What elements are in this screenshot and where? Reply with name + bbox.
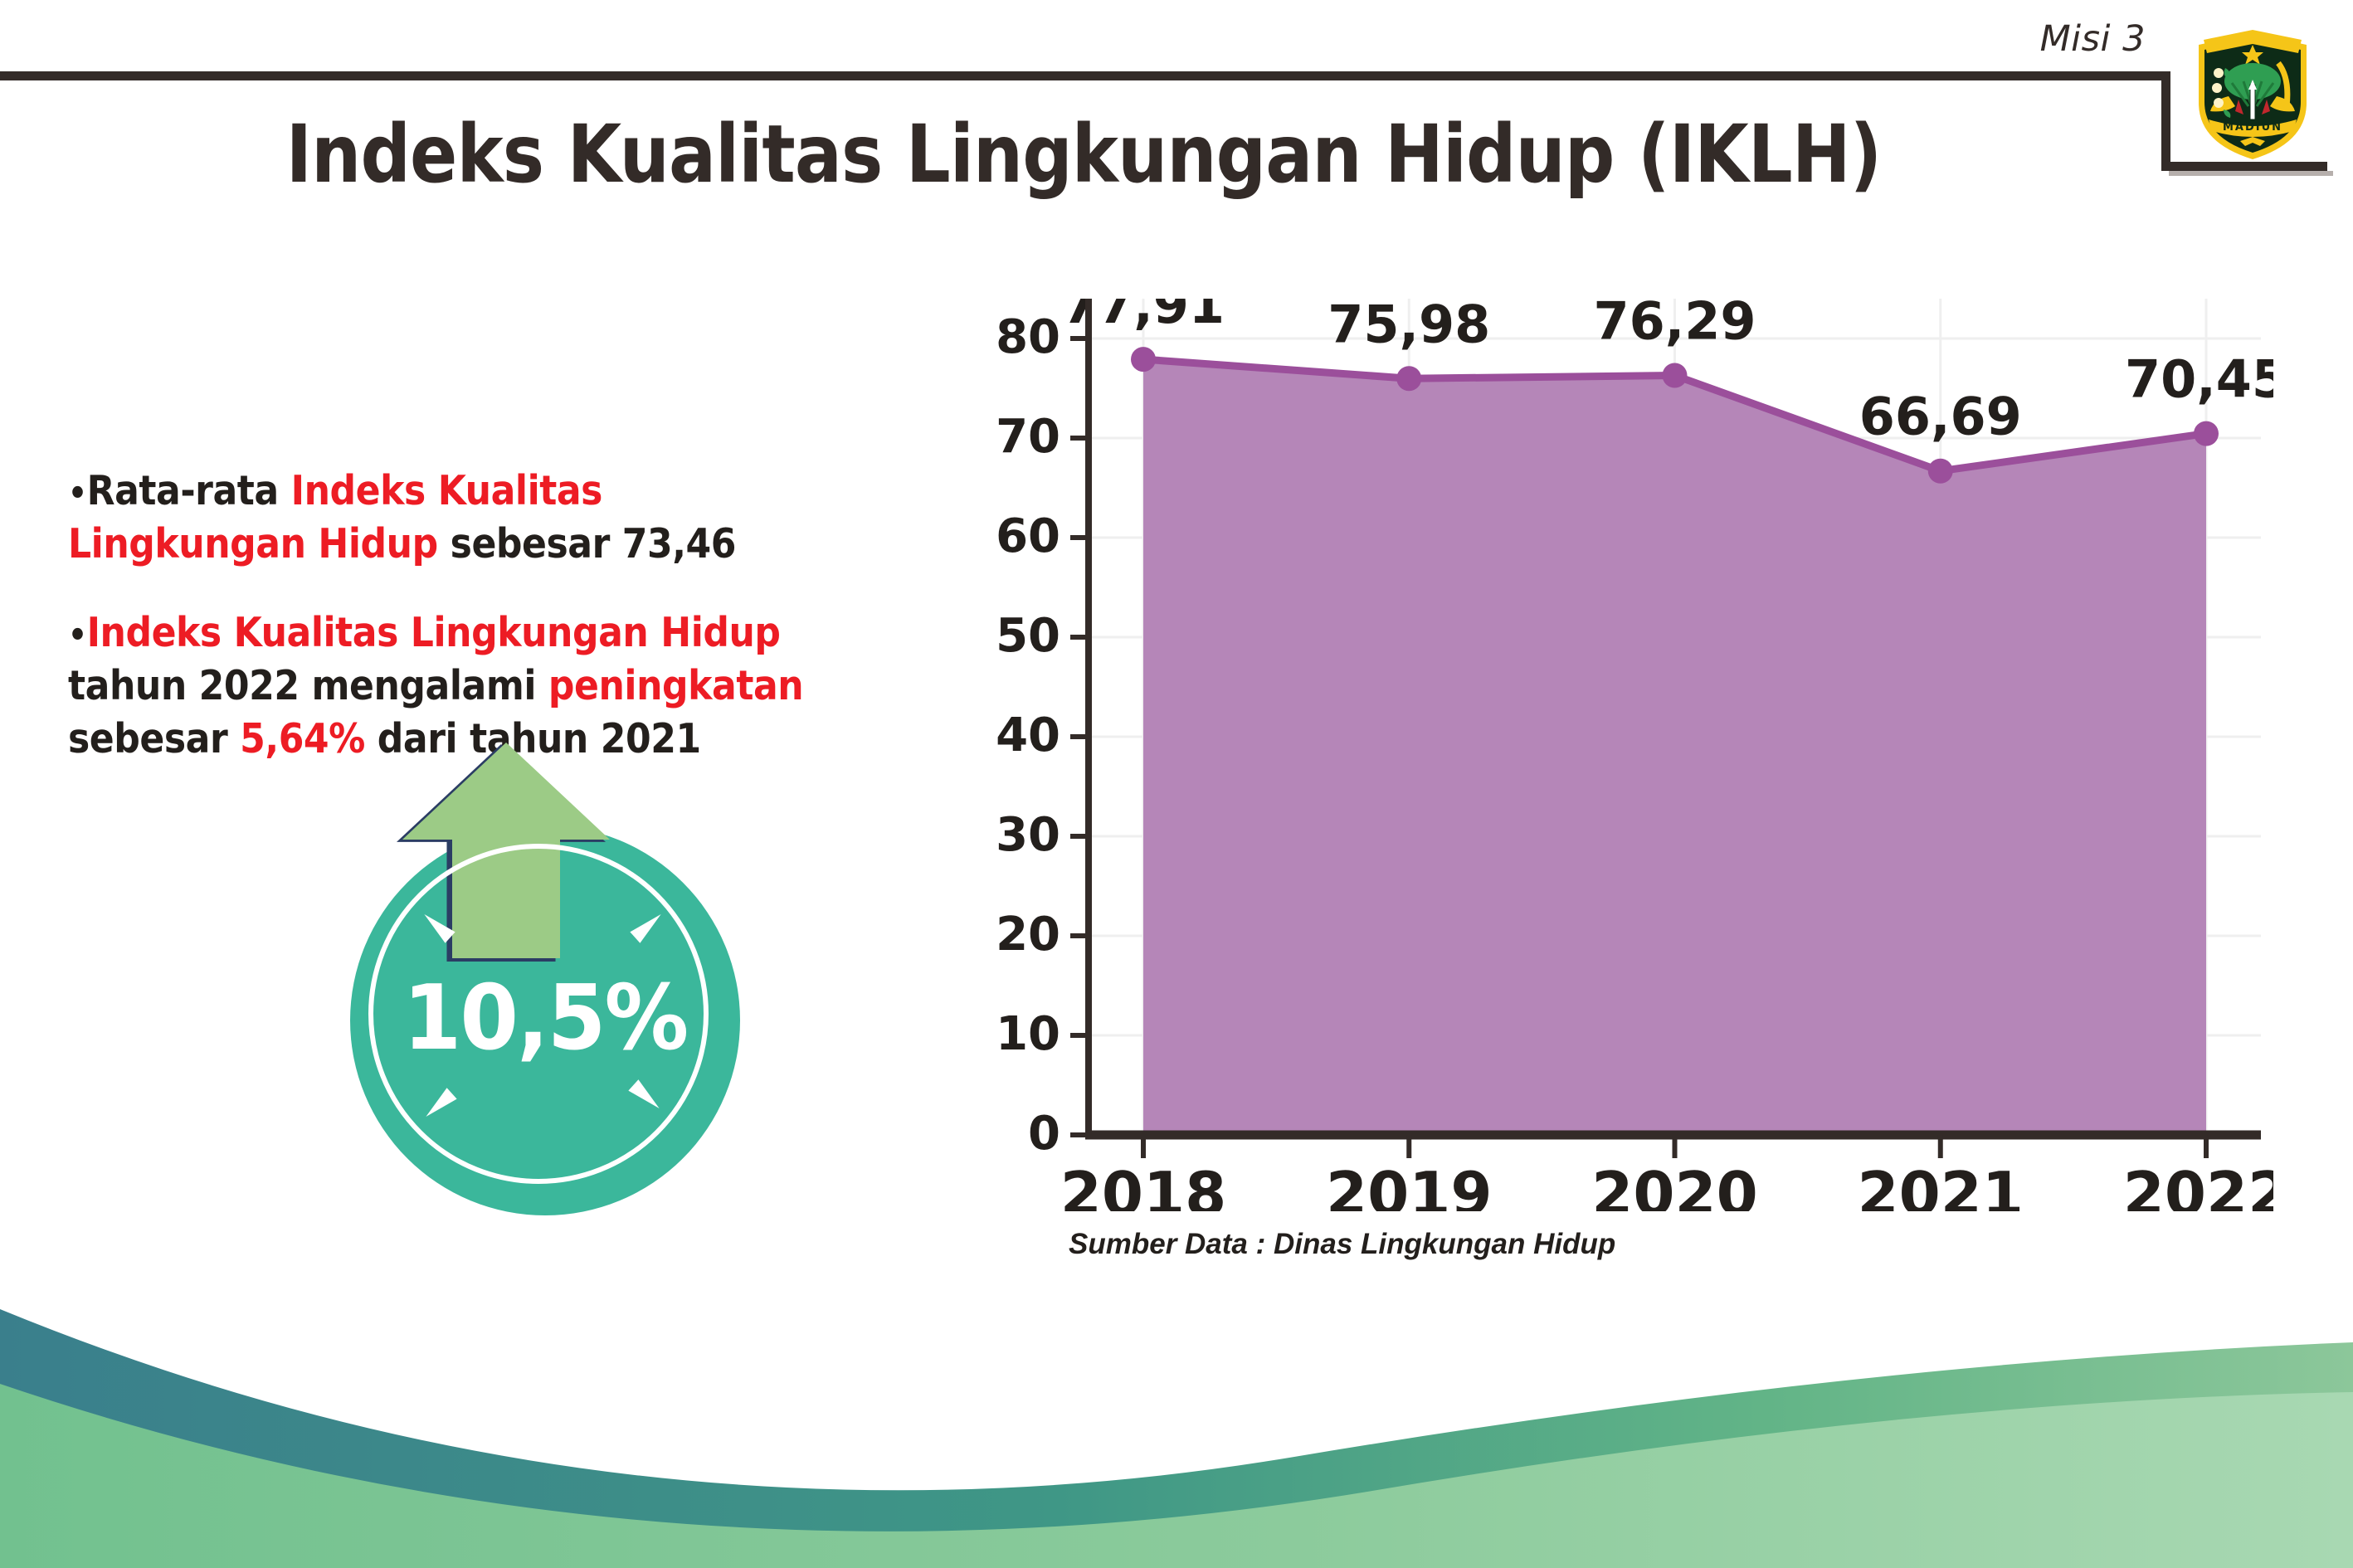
x-tick-label: 2019 bbox=[1326, 1159, 1492, 1211]
chart-marker bbox=[2194, 421, 2219, 446]
y-tick-label: 30 bbox=[996, 808, 1060, 862]
chart-value-label: 66,69 bbox=[1859, 387, 2022, 447]
badge-value: 10,5% bbox=[362, 967, 728, 1070]
footer-banner: Media Infografis Data Statistik Sektoral… bbox=[0, 1294, 2353, 1568]
mission-label: Misi 3 bbox=[2040, 18, 2146, 60]
highlight-text: peningkatan bbox=[548, 662, 803, 709]
kabupaten-madiun-crest-icon: MADIUN bbox=[2189, 20, 2316, 163]
chart-area-fill bbox=[1143, 359, 2206, 1135]
chart-marker bbox=[1928, 459, 1953, 484]
chart-value-label: 70,45 bbox=[2125, 349, 2273, 410]
x-tick-label: 2018 bbox=[1060, 1159, 1226, 1211]
increase-badge: 10,5% bbox=[324, 743, 788, 1215]
x-tick-label: 2021 bbox=[1858, 1159, 2024, 1211]
list-item: •Rata-rata Indeks Kualitas Lingkungan Hi… bbox=[68, 465, 852, 570]
y-tick-label: 20 bbox=[996, 908, 1060, 962]
chart-source-note: Sumber Data : Dinas Lingkungan Hidup bbox=[1069, 1228, 1615, 1261]
chart-marker bbox=[1131, 347, 1156, 372]
y-tick-label: 40 bbox=[996, 709, 1060, 762]
y-tick-label: 0 bbox=[1028, 1107, 1060, 1161]
logo-bracket-horizontal bbox=[2161, 162, 2327, 171]
x-tick-label: 2022 bbox=[2123, 1159, 2273, 1211]
footer-waves bbox=[0, 1294, 2353, 1568]
svg-text:MADIUN: MADIUN bbox=[2223, 121, 2282, 134]
page-title: Indeks Kualitas Lingkungan Hidup (IKLH) bbox=[130, 108, 2038, 201]
chart-marker bbox=[1663, 363, 1688, 388]
x-tick-label: 2020 bbox=[1591, 1159, 1757, 1211]
y-tick-label: 60 bbox=[996, 509, 1060, 563]
chart-value-label: 76,29 bbox=[1593, 299, 1756, 352]
bullet-dot: • bbox=[68, 616, 87, 655]
bullet-text-1: Indeks Kualitas Lingkungan Hidup tahun 2… bbox=[68, 609, 803, 762]
list-item: •Indeks Kualitas Lingkungan Hidup tahun … bbox=[68, 606, 852, 765]
highlight-text: Indeks Kualitas Lingkungan Hidup bbox=[87, 609, 781, 656]
iklh-area-chart: 01020304050607080 77,9175,9876,2966,6970… bbox=[979, 299, 2273, 1278]
y-tick-label: 70 bbox=[996, 410, 1060, 464]
logo-bracket-shadow bbox=[2169, 171, 2333, 176]
bullet-text-0: Rata-rata Indeks Kualitas Lingkungan Hid… bbox=[68, 467, 736, 567]
logo-bracket-vertical bbox=[2161, 71, 2170, 171]
chart-marker bbox=[1396, 366, 1421, 391]
bullet-dot: • bbox=[68, 475, 87, 513]
chart-y-axis-labels: 01020304050607080 bbox=[996, 310, 1060, 1161]
chart-canvas: 01020304050607080 77,9175,9876,2966,6970… bbox=[979, 299, 2273, 1211]
y-tick-label: 80 bbox=[996, 310, 1060, 364]
chart-x-axis-labels: 20182019202020212022 bbox=[1060, 1159, 2273, 1211]
y-tick-label: 50 bbox=[996, 609, 1060, 663]
chart-value-label: 75,98 bbox=[1328, 299, 1490, 354]
header-divider bbox=[0, 71, 2167, 80]
y-tick-label: 10 bbox=[996, 1007, 1060, 1061]
